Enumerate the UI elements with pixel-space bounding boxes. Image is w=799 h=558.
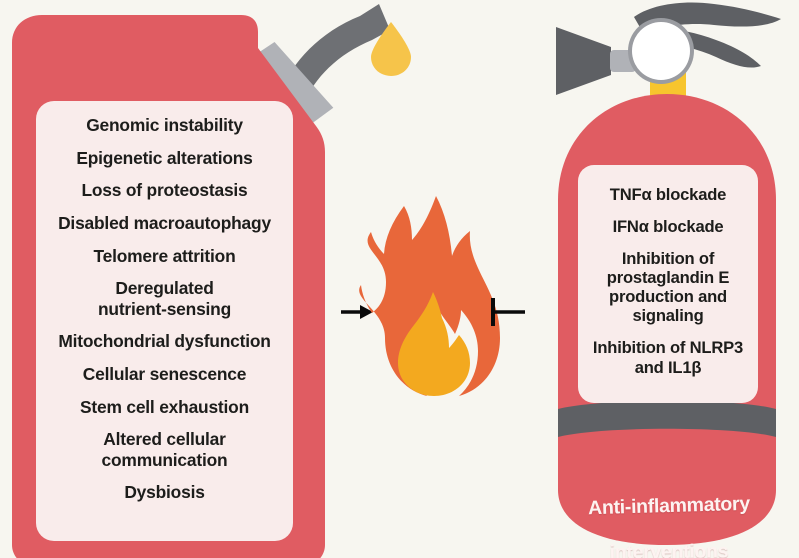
extinguisher-nozzle-horn	[556, 27, 611, 95]
hallmark-item: Genomic instability	[42, 115, 287, 135]
interventions-list: TNFα blockade IFNα blockade Inhibition o…	[582, 185, 754, 390]
inflammaging-figure: Genomic instability Epigenetic alteratio…	[0, 0, 799, 558]
pressure-gauge-face	[632, 22, 690, 80]
hallmarks-list: Genomic instability Epigenetic alteratio…	[42, 115, 287, 515]
flame-icon	[359, 196, 500, 396]
hallmark-item: Telomere attrition	[42, 246, 287, 266]
hallmark-item: Altered cellular communication	[42, 429, 287, 469]
promotes-arrow-icon	[341, 305, 373, 319]
intervention-item: TNFα blockade	[582, 185, 754, 204]
hallmark-item: Stem cell exhaustion	[42, 397, 287, 417]
hallmark-item: Mitochondrial dysfunction	[42, 331, 287, 351]
hallmark-item: Loss of proteostasis	[42, 180, 287, 200]
intervention-item: Inhibition of prostaglandin E production…	[582, 249, 754, 325]
hallmark-item: Deregulated nutrient-sensing	[42, 278, 287, 318]
hallmarks-of-aging-panel: Genomic instability Epigenetic alteratio…	[36, 101, 293, 541]
hallmark-item: Cellular senescence	[42, 364, 287, 384]
caption-line-2: interventions	[548, 540, 790, 558]
hallmark-item: Disabled macroautophagy	[42, 213, 287, 233]
hallmark-item: Epigenetic alterations	[42, 148, 287, 168]
extinguisher-caption: Anti-inflammatory interventions	[548, 472, 790, 558]
interventions-panel: TNFα blockade IFNα blockade Inhibition o…	[578, 165, 758, 403]
caption-line-1: Anti-inflammatory	[548, 492, 791, 522]
intervention-item: IFNα blockade	[582, 217, 754, 236]
intervention-item: Inhibition of NLRP3 and IL1β	[582, 338, 754, 376]
hallmark-item: Dysbiosis	[42, 482, 287, 502]
